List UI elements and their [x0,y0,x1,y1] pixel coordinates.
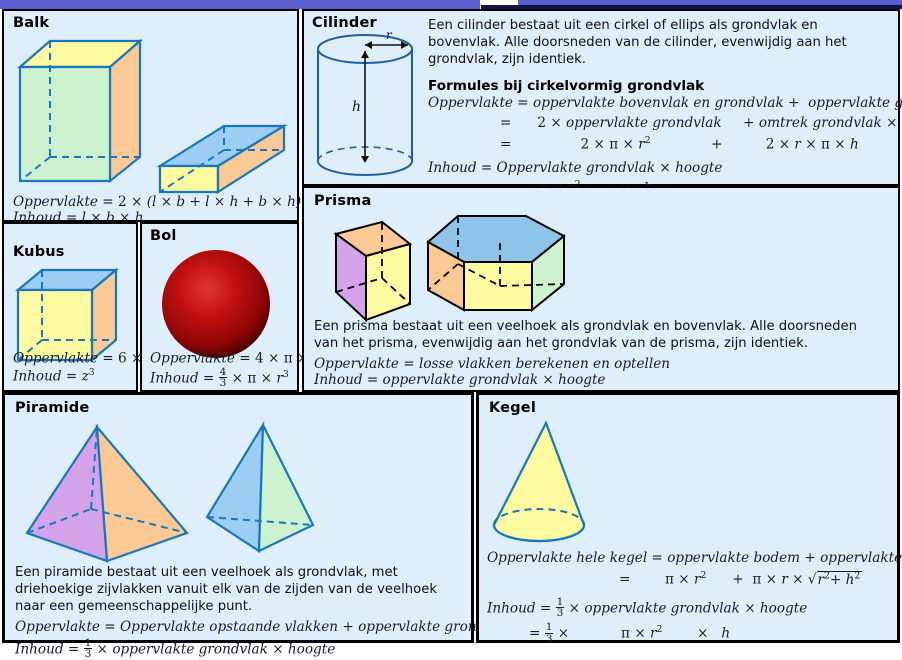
shape-tetrahedron [201,417,329,557]
panel-title-piramide: Piramide [15,400,89,416]
formula-piramide-inhoud: Inhoud = 13 × oppervlakte grondvlak × ho… [15,638,465,660]
formula-kubus-oppervlakte: Oppervlakte = 6 × z2 [13,349,160,367]
panel-kegel: Kegel Oppervlakte hele kegel = oppervlak… [476,392,900,643]
formula-bol-inhoud: Inhoud = 43 × π × r3 [150,367,325,390]
panel-title-cilinder: Cilinder [312,15,377,31]
shape-upright-box [12,29,152,189]
kegel-volume-row-1: Inhoud = 13 × oppervlakte grondvlak × ho… [487,597,887,620]
kegel-surface-row-1: Oppervlakte hele kegel = oppervlakte bod… [487,550,887,566]
accent-band-left [0,0,480,9]
formula-piramide-oppervlakte: Oppervlakte = Oppervlakte opstaande vlak… [15,619,465,635]
formula-kubus-inhoud: Inhoud = z3 [13,367,160,385]
panel-bol: Bol Oppervlakte = 4 × π × r2 In [140,222,299,392]
kegel-surface-row-2: = π × r2 + π × r × √r2+ h2 [487,570,887,588]
shape-cone [487,417,597,549]
formula-prisma-oppervlakte: Oppervlakte = losse vlakken berekenen en… [314,356,874,372]
cilinder-volume-row-1: Inhoud = Oppervlakte grondvlak × hoogte [428,160,890,176]
panel-cilinder: Cilinder r h Een cilinder bestaat uit ee… [302,9,900,186]
cilinder-surface-row-1: Oppervlakte = oppervlakte bovenvlak en g… [428,95,890,111]
piramide-description: Een piramide bestaat uit een veelhoek al… [15,565,465,616]
prisma-description: Een prisma bestaat uit een veelhoek als … [314,319,874,353]
cilinder-description: Een cilinder bestaat uit een cirkel of e… [428,18,890,69]
panel-title-kegel: Kegel [489,400,536,416]
shape-cylinder: r h [310,33,420,183]
panel-piramide: Piramide Een piramide bestaat uit een ve… [2,392,474,643]
cilinder-surface-row-3: = 2 × π × r2 + 2 × r × π × h [428,135,890,153]
formula-bol-oppervlakte: Oppervlakte = 4 × π × r2 [150,349,325,367]
accent-band-right [518,0,902,5]
kegel-volume-row-2: = 13 × π × r2 × h [487,622,887,645]
panel-title-kubus: Kubus [13,244,65,260]
formula-prisma-inhoud: Inhoud = oppervlakte grondvlak × hoogte [314,372,874,388]
panel-prisma: Prisma Een prisma bestaat uit een veelho… [302,186,900,392]
panel-kubus: Kubus Oppervlakte = 6 × z2 Inhoud = z3 [2,222,138,392]
shape-square-pyramid [15,417,205,565]
panel-balk: Balk Oppervlakte = 2 × (l × b + l × h + … [2,9,299,222]
panel-title-prisma: Prisma [314,193,371,209]
formula-balk-oppervlakte: Oppervlakte = 2 × (l × b + l × h + b × h… [13,194,301,210]
cilinder-surface-row-2: = 2 × oppervlakte grondvlak + omtrek gro… [428,115,890,131]
formula-sheet: Balk Oppervlakte = 2 × (l × b + l × h + … [0,0,902,645]
shape-sphere [160,248,272,360]
shape-triangular-prism [316,216,426,324]
shape-flat-box [156,114,296,199]
cilinder-subheading: Formules bij cirkelvormig grondvlak [428,78,890,94]
panel-title-bol: Bol [150,228,177,244]
svg-text:h: h [352,99,361,115]
shape-hexagonal-prism [422,206,572,326]
